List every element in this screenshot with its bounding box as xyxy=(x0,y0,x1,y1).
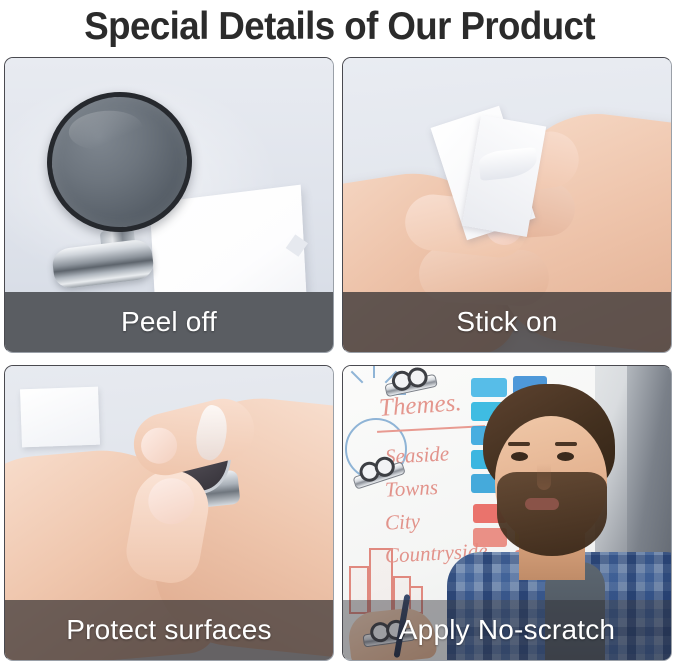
panel-apply-no-scratch[interactable]: Themes. Seaside Towns xyxy=(342,365,672,661)
panel-grid: Peel off Stick on xyxy=(4,57,675,661)
eye-left xyxy=(511,452,528,461)
beard xyxy=(497,472,607,556)
caption-label: Protect surfaces xyxy=(66,614,272,646)
eye-right xyxy=(557,452,574,461)
caption-label: Stick on xyxy=(456,306,557,338)
page-title-bar: Special Details of Our Product xyxy=(0,0,679,52)
sun-ray-icon xyxy=(373,366,375,378)
mouth xyxy=(525,498,559,510)
panel-stick-on[interactable]: Stick on xyxy=(342,57,672,353)
caption-protect-surfaces: Protect surfaces xyxy=(5,600,333,660)
product-details-infographic: Special Details of Our Product Peel off xyxy=(0,0,679,664)
caption-apply-no-scratch: Apply No-scratch xyxy=(343,600,671,660)
spare-film-square xyxy=(20,387,100,448)
caption-peel-off: Peel off xyxy=(5,292,333,352)
caption-stick-on: Stick on xyxy=(343,292,671,352)
sun-ray-icon xyxy=(351,371,364,384)
page-title: Special Details of Our Product xyxy=(84,7,595,46)
caption-label: Peel off xyxy=(121,306,217,338)
eyebrow-left xyxy=(508,442,530,446)
panel-peel-off[interactable]: Peel off xyxy=(4,57,334,353)
nose xyxy=(537,464,551,490)
panel-protect-surfaces[interactable]: Protect surfaces xyxy=(4,365,334,661)
caption-label: Apply No-scratch xyxy=(399,614,615,646)
eyebrow-right xyxy=(555,442,577,446)
